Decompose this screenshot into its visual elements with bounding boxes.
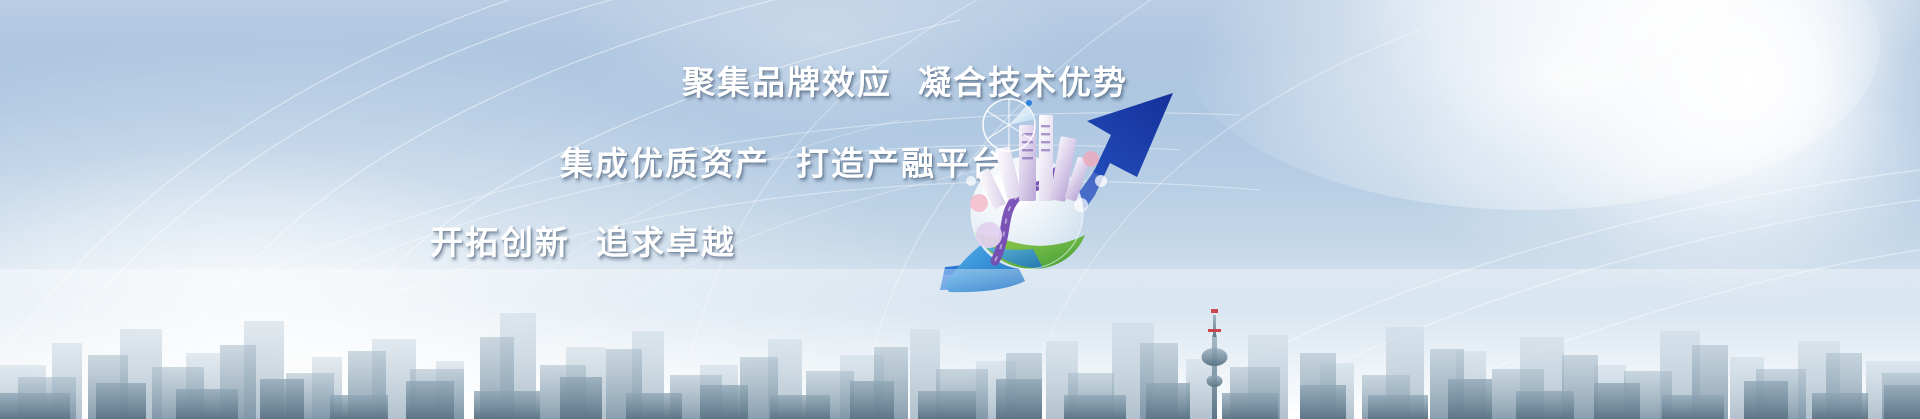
hero-banner: 聚集品牌效应凝合技术优势 集成优质资产打造产融平台 开拓创新追求卓越 xyxy=(0,0,1920,419)
slogan-3-right: 追求卓越 xyxy=(596,223,736,262)
globe-buildings-icon xyxy=(977,115,1090,210)
slogan-line-3: 开拓创新追求卓越 xyxy=(430,216,736,264)
slogan-2-left: 集成优质资产 xyxy=(560,144,770,183)
slogan-3-left: 开拓创新 xyxy=(430,223,570,262)
slogan-1-left: 聚集品牌效应 xyxy=(682,63,892,102)
city-skyline-icon xyxy=(0,269,1920,419)
globe-growth-graphic xyxy=(905,85,1205,300)
